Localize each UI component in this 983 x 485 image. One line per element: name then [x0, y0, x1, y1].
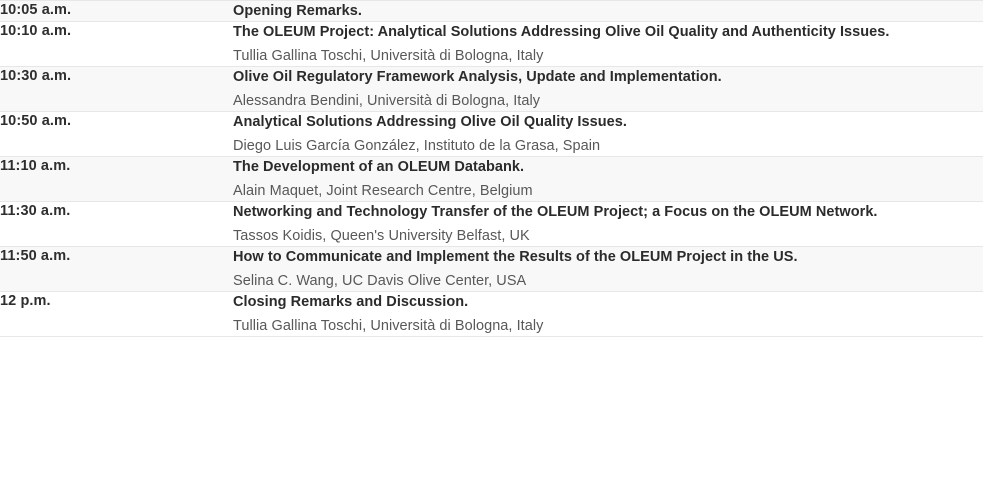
agenda-row: 10:10 a.m.The OLEUM Project: Analytical … — [0, 22, 983, 67]
agenda-session-speaker: Tullia Gallina Toschi, Università di Bol… — [233, 316, 983, 336]
agenda-detail-cell: Opening Remarks. — [233, 1, 983, 22]
agenda-session-speaker: Tullia Gallina Toschi, Università di Bol… — [233, 46, 983, 66]
agenda-time-cell: 10:50 a.m. — [0, 112, 233, 157]
agenda-row: 11:10 a.m.The Development of an OLEUM Da… — [0, 157, 983, 202]
agenda-detail-cell: Networking and Technology Transfer of th… — [233, 202, 983, 247]
agenda-schedule-table: 10:05 a.m.Opening Remarks.10:10 a.m.The … — [0, 0, 983, 337]
agenda-time-label: 12 p.m. — [0, 292, 233, 311]
agenda-session-title: How to Communicate and Implement the Res… — [233, 247, 983, 267]
agenda-session-speaker: Alain Maquet, Joint Research Centre, Bel… — [233, 181, 983, 201]
agenda-time-cell: 10:05 a.m. — [0, 1, 233, 22]
agenda-detail-cell: Closing Remarks and Discussion.Tullia Ga… — [233, 292, 983, 337]
agenda-time-cell: 11:30 a.m. — [0, 202, 233, 247]
agenda-row: 10:50 a.m.Analytical Solutions Addressin… — [0, 112, 983, 157]
agenda-time-cell: 11:50 a.m. — [0, 247, 233, 292]
agenda-detail-cell: Olive Oil Regulatory Framework Analysis,… — [233, 67, 983, 112]
agenda-session-speaker: Alessandra Bendini, Università di Bologn… — [233, 91, 983, 111]
agenda-session-speaker: Selina C. Wang, UC Davis Olive Center, U… — [233, 271, 983, 291]
agenda-time-label: 11:50 a.m. — [0, 247, 233, 266]
agenda-detail-cell: Analytical Solutions Addressing Olive Oi… — [233, 112, 983, 157]
agenda-time-label: 10:30 a.m. — [0, 67, 233, 86]
agenda-session-speaker: Diego Luis García González, Instituto de… — [233, 136, 983, 156]
agenda-time-cell: 10:10 a.m. — [0, 22, 233, 67]
agenda-session-title: Opening Remarks. — [233, 1, 983, 21]
agenda-session-speaker: Tassos Koidis, Queen's University Belfas… — [233, 226, 983, 246]
agenda-detail-cell: The Development of an OLEUM Databank.Ala… — [233, 157, 983, 202]
agenda-time-cell: 11:10 a.m. — [0, 157, 233, 202]
agenda-time-label: 10:10 a.m. — [0, 22, 233, 41]
agenda-time-cell: 10:30 a.m. — [0, 67, 233, 112]
agenda-time-label: 10:50 a.m. — [0, 112, 233, 131]
agenda-detail-cell: The OLEUM Project: Analytical Solutions … — [233, 22, 983, 67]
agenda-session-title: Networking and Technology Transfer of th… — [233, 202, 983, 222]
agenda-row: 10:05 a.m.Opening Remarks. — [0, 1, 983, 22]
agenda-session-title: Analytical Solutions Addressing Olive Oi… — [233, 112, 983, 132]
agenda-session-title: The OLEUM Project: Analytical Solutions … — [233, 22, 983, 42]
agenda-session-title: Olive Oil Regulatory Framework Analysis,… — [233, 67, 983, 87]
agenda-session-title: The Development of an OLEUM Databank. — [233, 157, 983, 177]
agenda-time-label: 11:30 a.m. — [0, 202, 233, 221]
agenda-time-label: 10:05 a.m. — [0, 1, 233, 20]
agenda-table-body: 10:05 a.m.Opening Remarks.10:10 a.m.The … — [0, 1, 983, 337]
agenda-row: 11:30 a.m.Networking and Technology Tran… — [0, 202, 983, 247]
agenda-detail-cell: How to Communicate and Implement the Res… — [233, 247, 983, 292]
agenda-row: 11:50 a.m.How to Communicate and Impleme… — [0, 247, 983, 292]
agenda-time-label: 11:10 a.m. — [0, 157, 233, 176]
agenda-row: 10:30 a.m.Olive Oil Regulatory Framework… — [0, 67, 983, 112]
agenda-time-cell: 12 p.m. — [0, 292, 233, 337]
agenda-session-title: Closing Remarks and Discussion. — [233, 292, 983, 312]
agenda-row: 12 p.m.Closing Remarks and Discussion.Tu… — [0, 292, 983, 337]
